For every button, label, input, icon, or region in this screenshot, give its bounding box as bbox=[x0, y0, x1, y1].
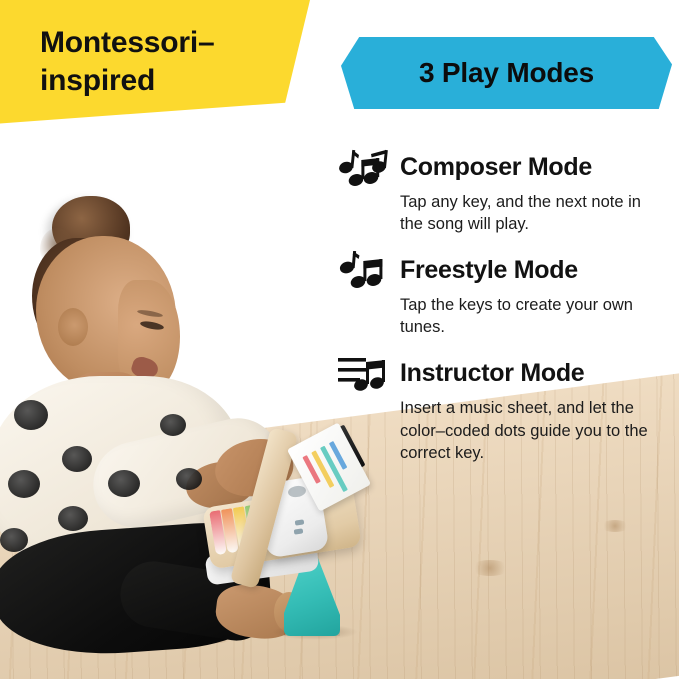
shirt-dot bbox=[58, 506, 88, 531]
mode-description: Tap the keys to create your own tunes. bbox=[400, 294, 668, 338]
play-modes-banner: 3 Play Modes bbox=[341, 37, 672, 109]
mode-item-composer: Composer Mode Tap any key, and the next … bbox=[336, 146, 672, 235]
shirt-dot bbox=[108, 470, 140, 497]
promo-image: Montessori–inspired 3 Play Modes bbox=[0, 0, 679, 679]
mode-header: Composer Mode bbox=[336, 146, 672, 188]
mode-item-freestyle: Freestyle Mode Tap the keys to create yo… bbox=[336, 249, 672, 338]
mode-item-instructor: Instructor Mode Insert a music sheet, an… bbox=[336, 352, 672, 463]
mode-description: Insert a music sheet, and let the color–… bbox=[400, 397, 668, 463]
shirt-dot bbox=[14, 400, 48, 430]
sheet-music-notes-icon bbox=[336, 353, 390, 393]
mode-description: Tap any key, and the next note in the so… bbox=[400, 191, 668, 235]
floor-knot bbox=[600, 520, 630, 532]
play-modes-banner-label: 3 Play Modes bbox=[419, 57, 594, 89]
double-music-notes-icon bbox=[336, 250, 390, 290]
shirt-dot bbox=[160, 414, 186, 436]
triple-music-notes-icon bbox=[336, 147, 390, 187]
mode-header: Freestyle Mode bbox=[336, 249, 672, 291]
mode-header: Instructor Mode bbox=[336, 352, 672, 394]
play-modes-list: Composer Mode Tap any key, and the next … bbox=[336, 146, 672, 478]
mode-title: Composer Mode bbox=[400, 153, 592, 182]
shirt-dot bbox=[8, 470, 40, 498]
shirt-dot bbox=[176, 468, 202, 490]
ear bbox=[58, 308, 88, 346]
floor-knot bbox=[470, 560, 510, 576]
montessori-badge-label: Montessori–inspired bbox=[40, 24, 290, 101]
mode-title: Freestyle Mode bbox=[400, 256, 578, 285]
shirt-dot bbox=[62, 446, 92, 472]
mode-title: Instructor Mode bbox=[400, 359, 584, 388]
